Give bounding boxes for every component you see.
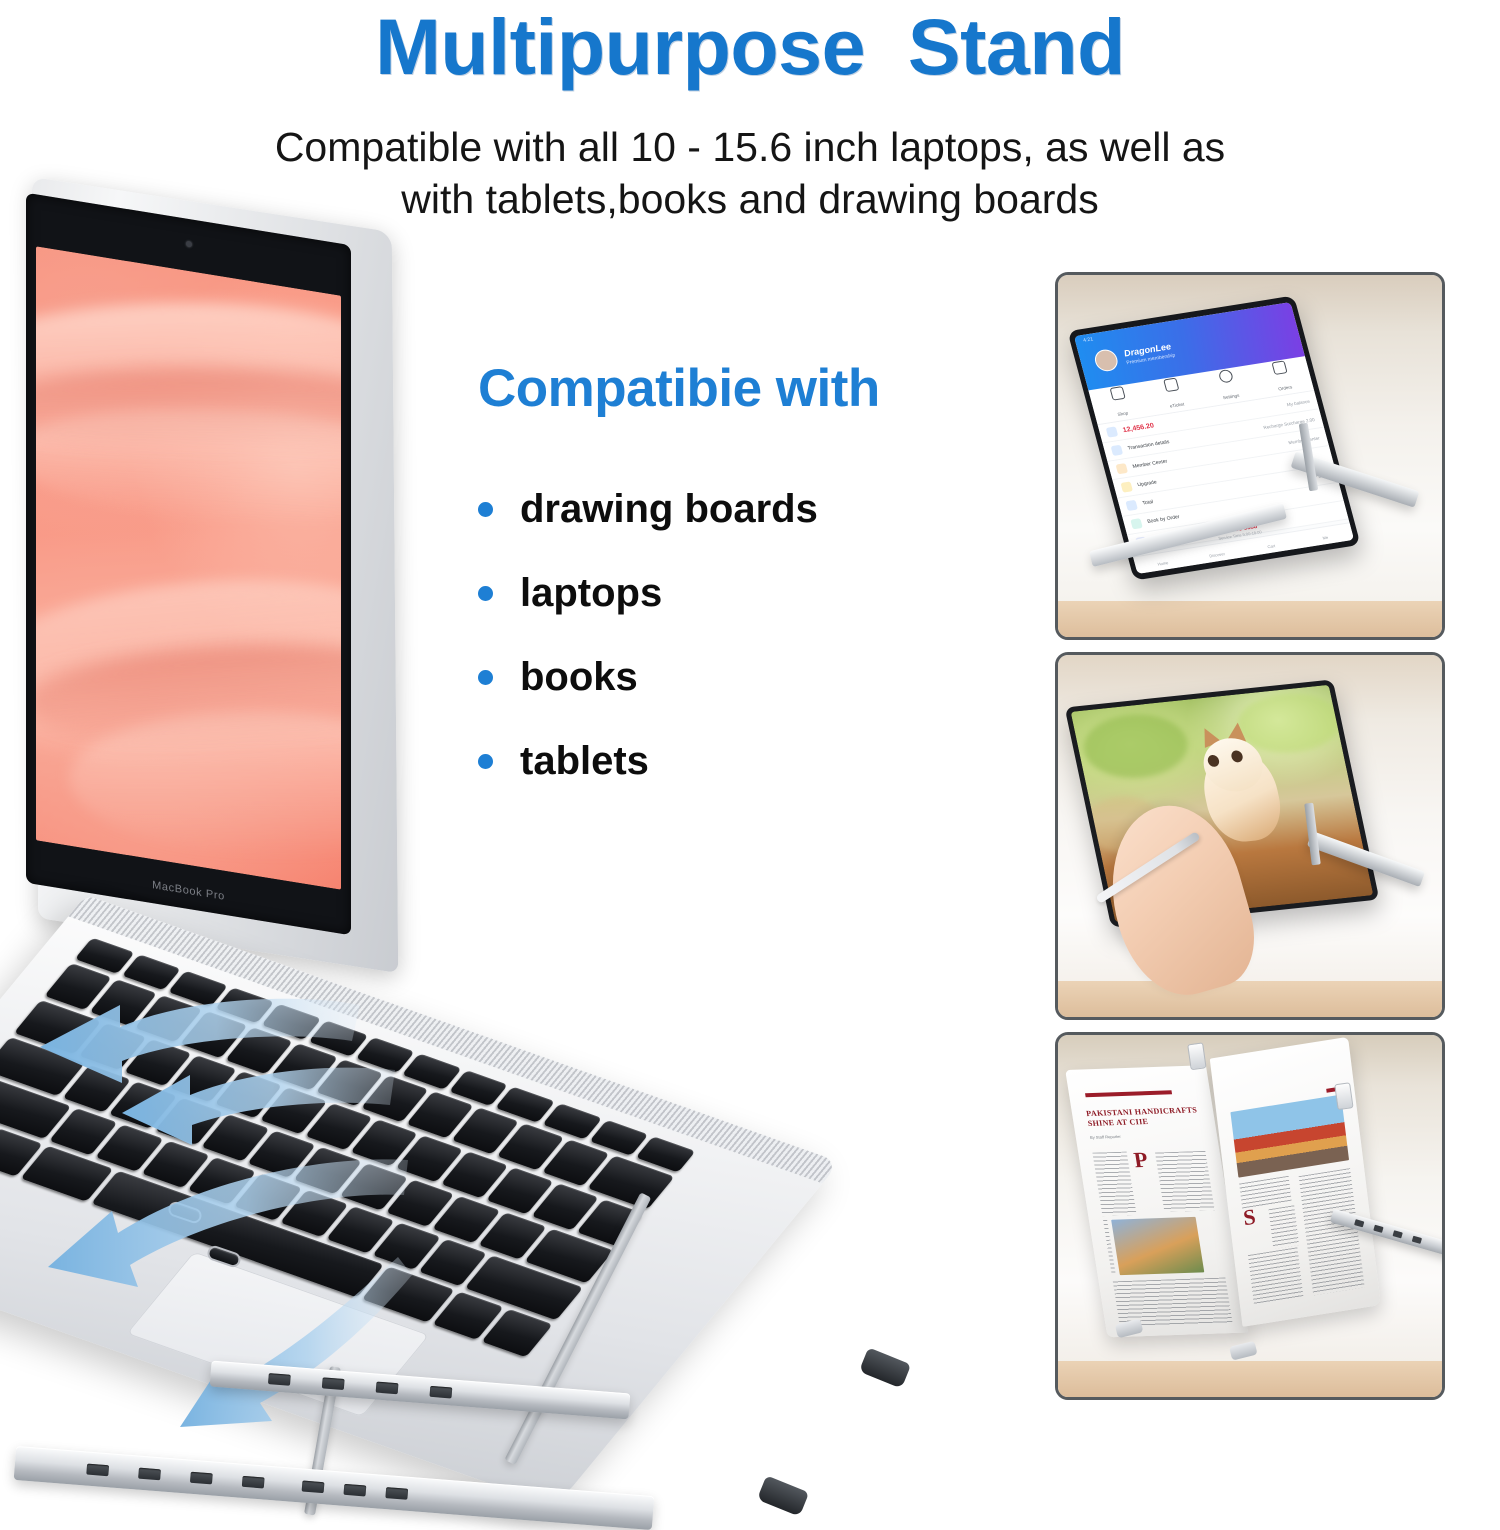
open-book: PAKISTANI HANDICRAFTS SHINE AT CIIE By S… [1069, 1036, 1408, 1375]
book-byline: By Staff Reporter [1090, 1134, 1122, 1140]
section-rule [1085, 1090, 1172, 1097]
total-icon [1125, 500, 1138, 511]
balance-icon [1106, 426, 1119, 437]
webcam-icon [186, 241, 192, 248]
photo-panel-tablet: 4:21 DragonLee Premium membership Shop e… [1055, 272, 1445, 640]
ticket-icon [1163, 377, 1179, 392]
bullet-icon [478, 586, 493, 601]
photo-panel-drawing [1055, 652, 1445, 1020]
airflow-arrow-2 [122, 1068, 395, 1145]
avatar [1092, 348, 1120, 373]
page-clip [1334, 1082, 1353, 1110]
member-icon [1116, 463, 1129, 474]
list-item: laptops [478, 551, 1018, 635]
book-photo [1111, 1217, 1204, 1275]
bullet-icon [478, 670, 493, 685]
upgrade-icon [1120, 481, 1133, 492]
desk-edge [1058, 601, 1442, 637]
orders-icon [1272, 360, 1288, 375]
drop-cap: S [1242, 1204, 1257, 1232]
adjustable-stand [0, 1155, 960, 1435]
status-bar-time: 4:21 [1083, 336, 1094, 343]
desk-edge [1058, 981, 1442, 1017]
laptop-screen-bezel: MacBook Pro [26, 193, 351, 936]
list-item: drawing boards [478, 467, 1018, 551]
compatibility-heading: Compatibie with [478, 358, 1018, 419]
list-item: books [478, 635, 1018, 719]
bullet-icon [478, 502, 493, 517]
stand-foot [859, 1347, 911, 1388]
compatibility-block: Compatibie with drawing boards laptops b… [478, 358, 1018, 803]
list-item-label: drawing boards [520, 487, 818, 532]
drop-cap: P [1132, 1147, 1150, 1173]
list-item-label: laptops [520, 571, 662, 616]
list-item: tablets [478, 719, 1018, 803]
stand-upper-bar [210, 1361, 631, 1420]
gear-icon [1217, 368, 1233, 383]
transaction-icon [1111, 445, 1124, 456]
laptop-wallpaper [36, 246, 341, 889]
tab-label: Shop [1117, 410, 1129, 416]
photo-panel-book: PAKISTANI HANDICRAFTS SHINE AT CIIE By S… [1055, 1032, 1445, 1400]
list-item-label: tablets [520, 739, 649, 784]
compatibility-list: drawing boards laptops books tablets [478, 467, 1018, 803]
shop-icon [1109, 386, 1125, 401]
tab-label: Settings [1222, 392, 1239, 399]
book-order-icon [1130, 518, 1143, 529]
tab-label: eTicket [1169, 401, 1185, 408]
row-value: My balance [1286, 398, 1310, 406]
book-photo [1230, 1095, 1349, 1178]
list-item-label: books [520, 655, 638, 700]
stand-leg [504, 1192, 651, 1465]
tab-label: Orders [1278, 384, 1293, 391]
book-headline: PAKISTANI HANDICRAFTS SHINE AT CIIE [1086, 1105, 1206, 1129]
page-title: Multipurpose Stand [0, 4, 1500, 89]
page-clip [1187, 1042, 1206, 1070]
stand-foot [757, 1475, 809, 1516]
bullet-icon [478, 754, 493, 769]
